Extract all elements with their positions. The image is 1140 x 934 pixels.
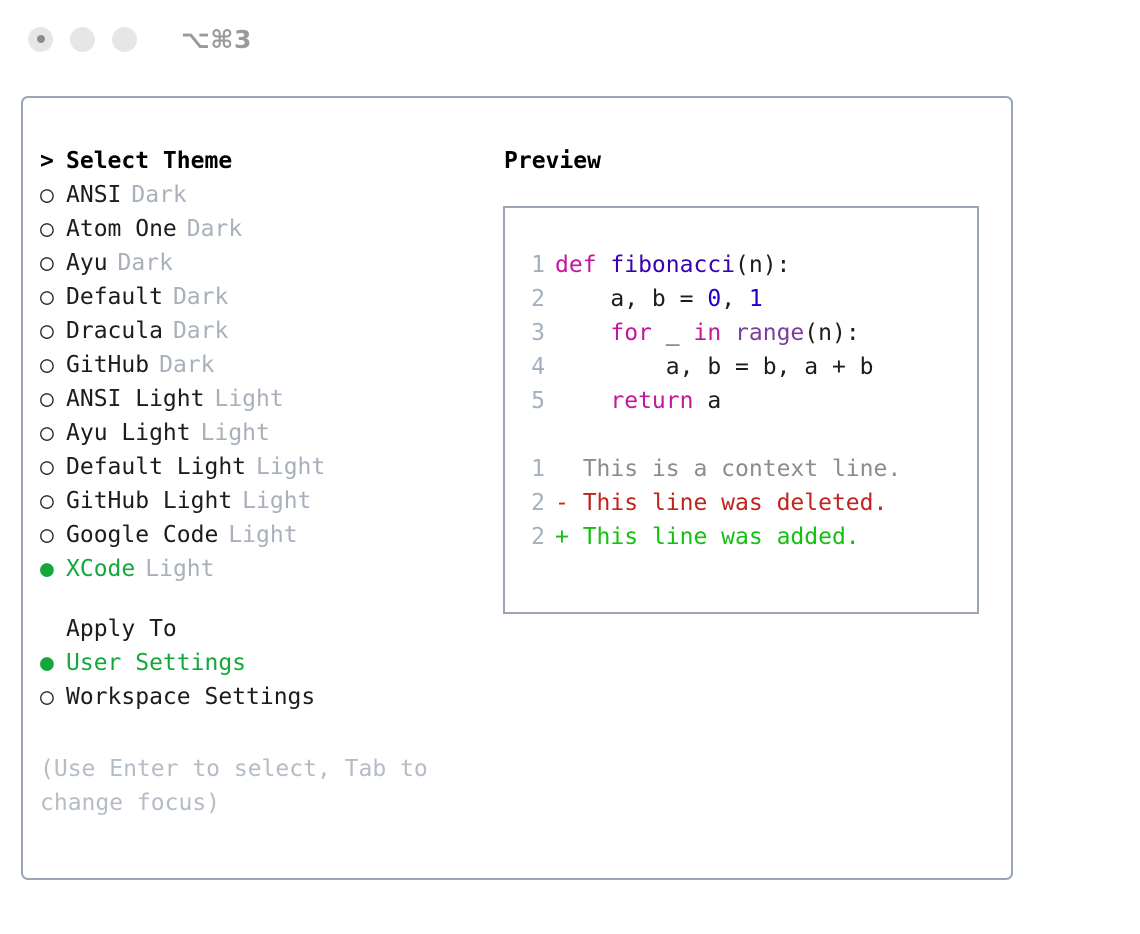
code-token: _ — [652, 320, 694, 346]
theme-list: ○ANSIDark○Atom OneDark○AyuDark○DefaultDa… — [40, 178, 500, 586]
code-token: range — [735, 320, 804, 346]
code-line: 4 a, b = b, a + b — [505, 350, 977, 384]
theme-list-item[interactable]: ○GitHubDark — [40, 348, 500, 382]
radio-unselected-icon[interactable]: ○ — [40, 484, 66, 518]
diff-sample: 1 This is a context line.2- This line wa… — [505, 452, 977, 554]
preview-box: 1def fibonacci(n):2 a, b = 0, 13 for _ i… — [503, 206, 979, 614]
theme-name-label: Atom One — [66, 212, 177, 246]
traffic-light-minimize-icon[interactable] — [70, 27, 95, 52]
code-line: 3 for _ in range(n): — [505, 316, 977, 350]
diff-spacer — [505, 418, 977, 452]
prompt-caret-icon: > — [40, 144, 66, 178]
radio-unselected-icon[interactable]: ○ — [40, 348, 66, 382]
diff-line-text: This is a context line. — [555, 452, 901, 486]
theme-variant-badge: Light — [204, 382, 283, 416]
code-token: a, b = — [555, 286, 707, 312]
theme-variant-badge: Light — [191, 416, 270, 450]
theme-selector-column: >Select Theme ○ANSIDark○Atom OneDark○Ayu… — [40, 144, 500, 820]
radio-unselected-icon[interactable]: ○ — [40, 416, 66, 450]
code-line-text: a, b = 0, 1 — [555, 282, 763, 316]
radio-unselected-icon[interactable]: ○ — [40, 680, 66, 714]
theme-name-label: GitHub Light — [66, 484, 232, 518]
radio-unselected-icon[interactable]: ○ — [40, 450, 66, 484]
app-window: ⌥⌘3 >Select Theme ○ANSIDark○Atom OneDark… — [0, 0, 1140, 934]
theme-list-item[interactable]: ○ANSIDark — [40, 178, 500, 212]
diff-text: This line was deleted. — [569, 490, 888, 516]
theme-name-label: Ayu Light — [66, 416, 191, 450]
theme-name-label: ANSI — [66, 178, 121, 212]
diff-line: 2- This line was deleted. — [505, 486, 977, 520]
theme-variant-badge: Dark — [149, 348, 214, 382]
theme-list-header: >Select Theme — [40, 144, 500, 178]
theme-list-item[interactable]: ○ANSI LightLight — [40, 382, 500, 416]
code-token: 1 — [749, 286, 763, 312]
code-token: a — [693, 388, 721, 414]
code-line: 1def fibonacci(n): — [505, 248, 977, 282]
preview-title: Preview — [503, 144, 993, 178]
diff-line-text: + This line was added. — [555, 520, 860, 554]
code-token: def — [555, 252, 610, 278]
code-token: , — [721, 286, 749, 312]
hint-spacer — [40, 714, 500, 748]
theme-list-item[interactable]: ○Ayu LightLight — [40, 416, 500, 450]
theme-list-header-label: Select Theme — [66, 144, 232, 178]
theme-name-label: ANSI Light — [66, 382, 204, 416]
apply-to-bullet-placeholder: ○ — [40, 612, 66, 646]
code-token: 0 — [707, 286, 721, 312]
radio-selected-icon[interactable]: ● — [40, 646, 66, 680]
theme-name-label: XCode — [66, 552, 135, 586]
code-line-text: return a — [555, 384, 721, 418]
code-line: 5 return a — [505, 384, 977, 418]
theme-list-item[interactable]: ○Google CodeLight — [40, 518, 500, 552]
line-number: 1 — [517, 248, 555, 282]
theme-list-item[interactable]: ○AyuDark — [40, 246, 500, 280]
code-token: return — [610, 388, 693, 414]
code-sample: 1def fibonacci(n):2 a, b = 0, 13 for _ i… — [505, 248, 977, 418]
apply-to-list: ●User Settings○Workspace Settings — [40, 646, 500, 714]
radio-unselected-icon[interactable]: ○ — [40, 280, 66, 314]
theme-list-item[interactable]: ○DraculaDark — [40, 314, 500, 348]
radio-unselected-icon[interactable]: ○ — [40, 382, 66, 416]
diff-text: This line was added. — [569, 524, 860, 550]
line-number: 2 — [517, 282, 555, 316]
apply-to-label: User Settings — [66, 646, 246, 680]
line-number: 5 — [517, 384, 555, 418]
theme-list-item[interactable]: ○GitHub LightLight — [40, 484, 500, 518]
radio-unselected-icon[interactable]: ○ — [40, 212, 66, 246]
traffic-light-maximize-icon[interactable] — [112, 27, 137, 52]
code-token: for — [610, 320, 652, 346]
theme-variant-badge: Dark — [121, 178, 186, 212]
diff-line-text: - This line was deleted. — [555, 486, 887, 520]
code-token: fibonacci — [610, 252, 735, 278]
apply-to-title: Apply To — [66, 612, 177, 646]
line-number: 2 — [517, 486, 555, 520]
theme-list-item[interactable]: ●XCodeLight — [40, 552, 500, 586]
keyboard-shortcut-label: ⌥⌘3 — [181, 25, 252, 54]
theme-variant-badge: Light — [218, 518, 297, 552]
code-token — [721, 320, 735, 346]
diff-text: This is a context line. — [569, 456, 901, 482]
radio-unselected-icon[interactable]: ○ — [40, 246, 66, 280]
code-line: 2 a, b = 0, 1 — [505, 282, 977, 316]
code-token: (n): — [735, 252, 790, 278]
line-number: 3 — [517, 316, 555, 350]
diff-marker: - — [555, 490, 569, 516]
line-number: 4 — [517, 350, 555, 384]
title-bar: ⌥⌘3 — [0, 0, 1140, 78]
apply-to-label: Workspace Settings — [66, 680, 315, 714]
diff-line: 1 This is a context line. — [505, 452, 977, 486]
radio-unselected-icon[interactable]: ○ — [40, 518, 66, 552]
theme-variant-badge: Light — [246, 450, 325, 484]
diff-line: 2+ This line was added. — [505, 520, 977, 554]
radio-selected-icon[interactable]: ● — [40, 552, 66, 586]
traffic-light-inner-dot — [37, 35, 45, 43]
theme-name-label: Google Code — [66, 518, 218, 552]
theme-name-label: Default — [66, 280, 163, 314]
section-spacer — [40, 586, 500, 612]
code-line-text: for _ in range(n): — [555, 316, 860, 350]
code-token: in — [693, 320, 721, 346]
code-token: a, b = b, a + b — [555, 354, 874, 380]
theme-name-label: GitHub — [66, 348, 149, 382]
diff-marker: + — [555, 524, 569, 550]
theme-list-item[interactable]: ○DefaultDark — [40, 280, 500, 314]
preview-column: Preview 1def fibonacci(n):2 a, b = 0, 13… — [503, 144, 993, 614]
theme-variant-badge: Dark — [108, 246, 173, 280]
code-token — [555, 388, 610, 414]
line-number: 2 — [517, 520, 555, 554]
theme-name-label: Ayu — [66, 246, 108, 280]
theme-name-label: Default Light — [66, 450, 246, 484]
line-number: 1 — [517, 452, 555, 486]
traffic-light-close-icon[interactable] — [28, 27, 53, 52]
theme-name-label: Dracula — [66, 314, 163, 348]
theme-list-item[interactable]: ○Default LightLight — [40, 450, 500, 484]
code-token — [555, 320, 610, 346]
theme-variant-badge: Dark — [163, 314, 228, 348]
window-controls — [28, 27, 137, 52]
main-panel: >Select Theme ○ANSIDark○Atom OneDark○Ayu… — [21, 96, 1013, 880]
theme-variant-badge: Dark — [163, 280, 228, 314]
code-line-text: a, b = b, a + b — [555, 350, 874, 384]
theme-variant-badge: Light — [232, 484, 311, 518]
radio-unselected-icon[interactable]: ○ — [40, 314, 66, 348]
apply-to-header: ○Apply To — [40, 612, 500, 646]
apply-to-item[interactable]: ●User Settings — [40, 646, 500, 680]
apply-to-item[interactable]: ○Workspace Settings — [40, 680, 500, 714]
code-token: (n): — [804, 320, 859, 346]
diff-marker — [555, 456, 569, 482]
code-line-text: def fibonacci(n): — [555, 248, 790, 282]
theme-variant-badge: Dark — [177, 212, 242, 246]
theme-list-item[interactable]: ○Atom OneDark — [40, 212, 500, 246]
keyboard-hint-text: (Use Enter to select, Tab to change focu… — [40, 752, 460, 820]
theme-variant-badge: Light — [135, 552, 214, 586]
radio-unselected-icon[interactable]: ○ — [40, 178, 66, 212]
